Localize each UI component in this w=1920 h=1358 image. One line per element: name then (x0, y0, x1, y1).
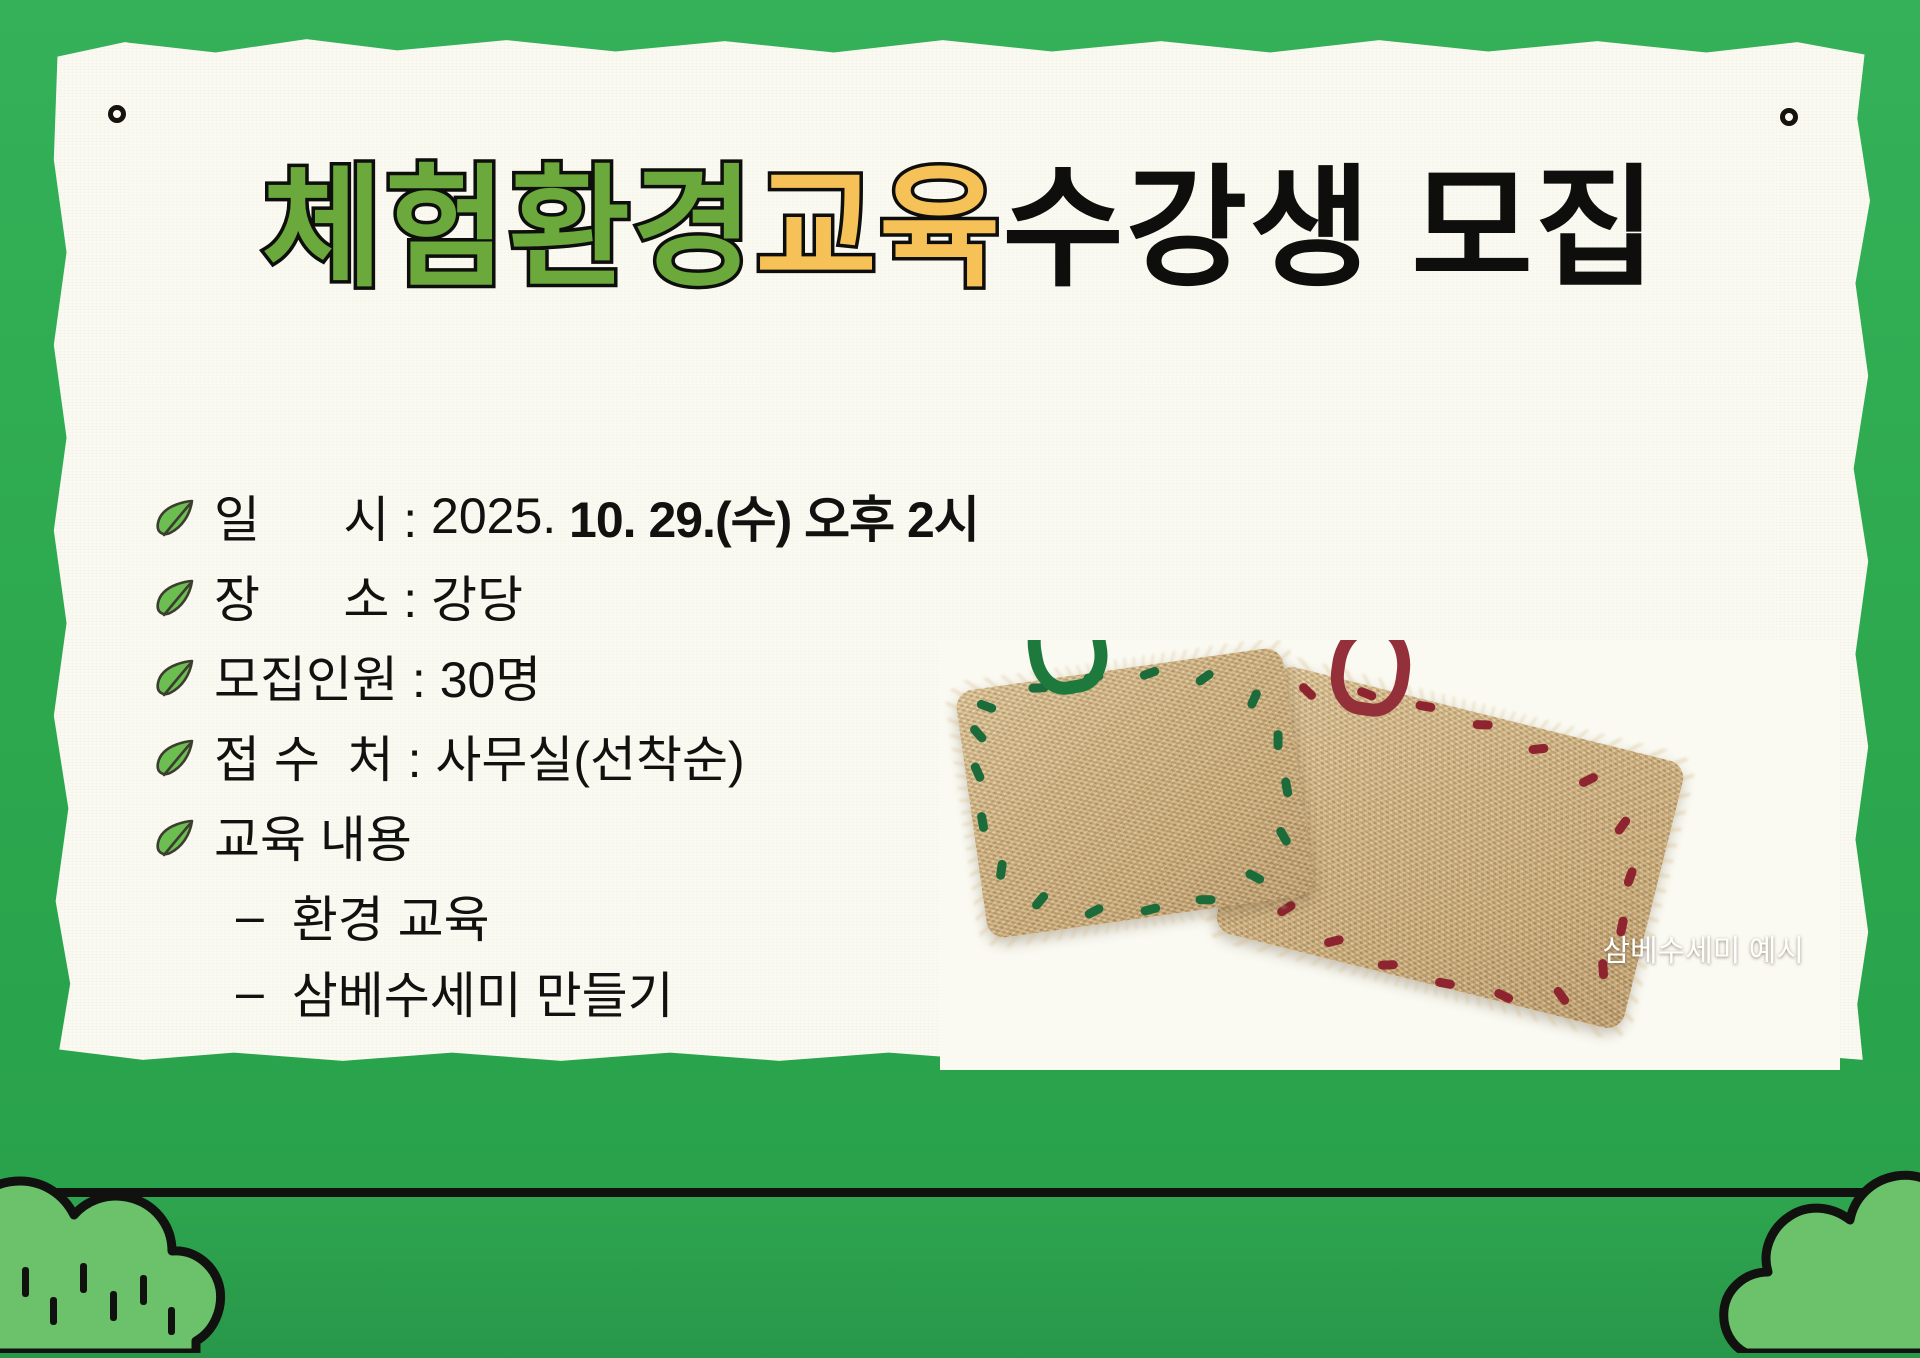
leaf-icon (152, 735, 198, 781)
leaf-icon (152, 815, 198, 861)
detail-label: 접 수 처 : (214, 720, 421, 792)
curriculum-item-label: 삼베수세미 만들기 (278, 956, 674, 1028)
photo-canvas: 삼베수세미 예시 (940, 640, 1840, 1070)
detail-value: 사무실(선착순) (421, 720, 744, 792)
photo-caption: 삼베수세미 예시 (1602, 926, 1804, 970)
detail-label: 장 소 : (214, 560, 417, 632)
sponge-pad-left (954, 646, 1316, 939)
detail-row-date: 일 시 : 2025. 10. 29.(수) 오후 2시 (152, 478, 1172, 554)
leaf-icon (152, 495, 198, 541)
curriculum-item-label: 환경 교육 (278, 880, 490, 952)
title-part-green: 체험환경 (262, 155, 756, 302)
leaf-icon (152, 575, 198, 621)
punch-hole-left-icon (108, 105, 126, 123)
detail-value: 30명 (426, 640, 542, 712)
bush-right-icon (1620, 1158, 1920, 1358)
title-part-orange: 교육 (756, 155, 1003, 302)
detail-label: 교육 내용 (214, 800, 412, 872)
loofah-sponge-photo: 삼베수세미 예시 (940, 640, 1840, 1070)
dash-marker: – (236, 963, 264, 1021)
title-part-black: 수강생 모집 (1002, 155, 1658, 302)
detail-value-bold: 10. 29.(수) 오후 2시 (556, 480, 979, 552)
dash-marker: – (236, 887, 264, 945)
punch-hole-right-icon (1780, 108, 1798, 126)
poster-canvas: 체험환경교육수강생 모집 일 시 : 2025. 10. 29.(수) 오후 2… (0, 0, 1920, 1358)
detail-value: 강당 (417, 560, 523, 632)
page-title: 체험환경교육수강생 모집 (0, 160, 1920, 299)
detail-label: 일 시 : (214, 480, 417, 552)
detail-value: 2025. (417, 487, 556, 545)
bush-left-icon (0, 1163, 264, 1358)
leaf-icon (152, 655, 198, 701)
detail-row-place: 장 소 : 강당 (152, 558, 1172, 634)
detail-label: 모집인원 : (214, 640, 426, 712)
